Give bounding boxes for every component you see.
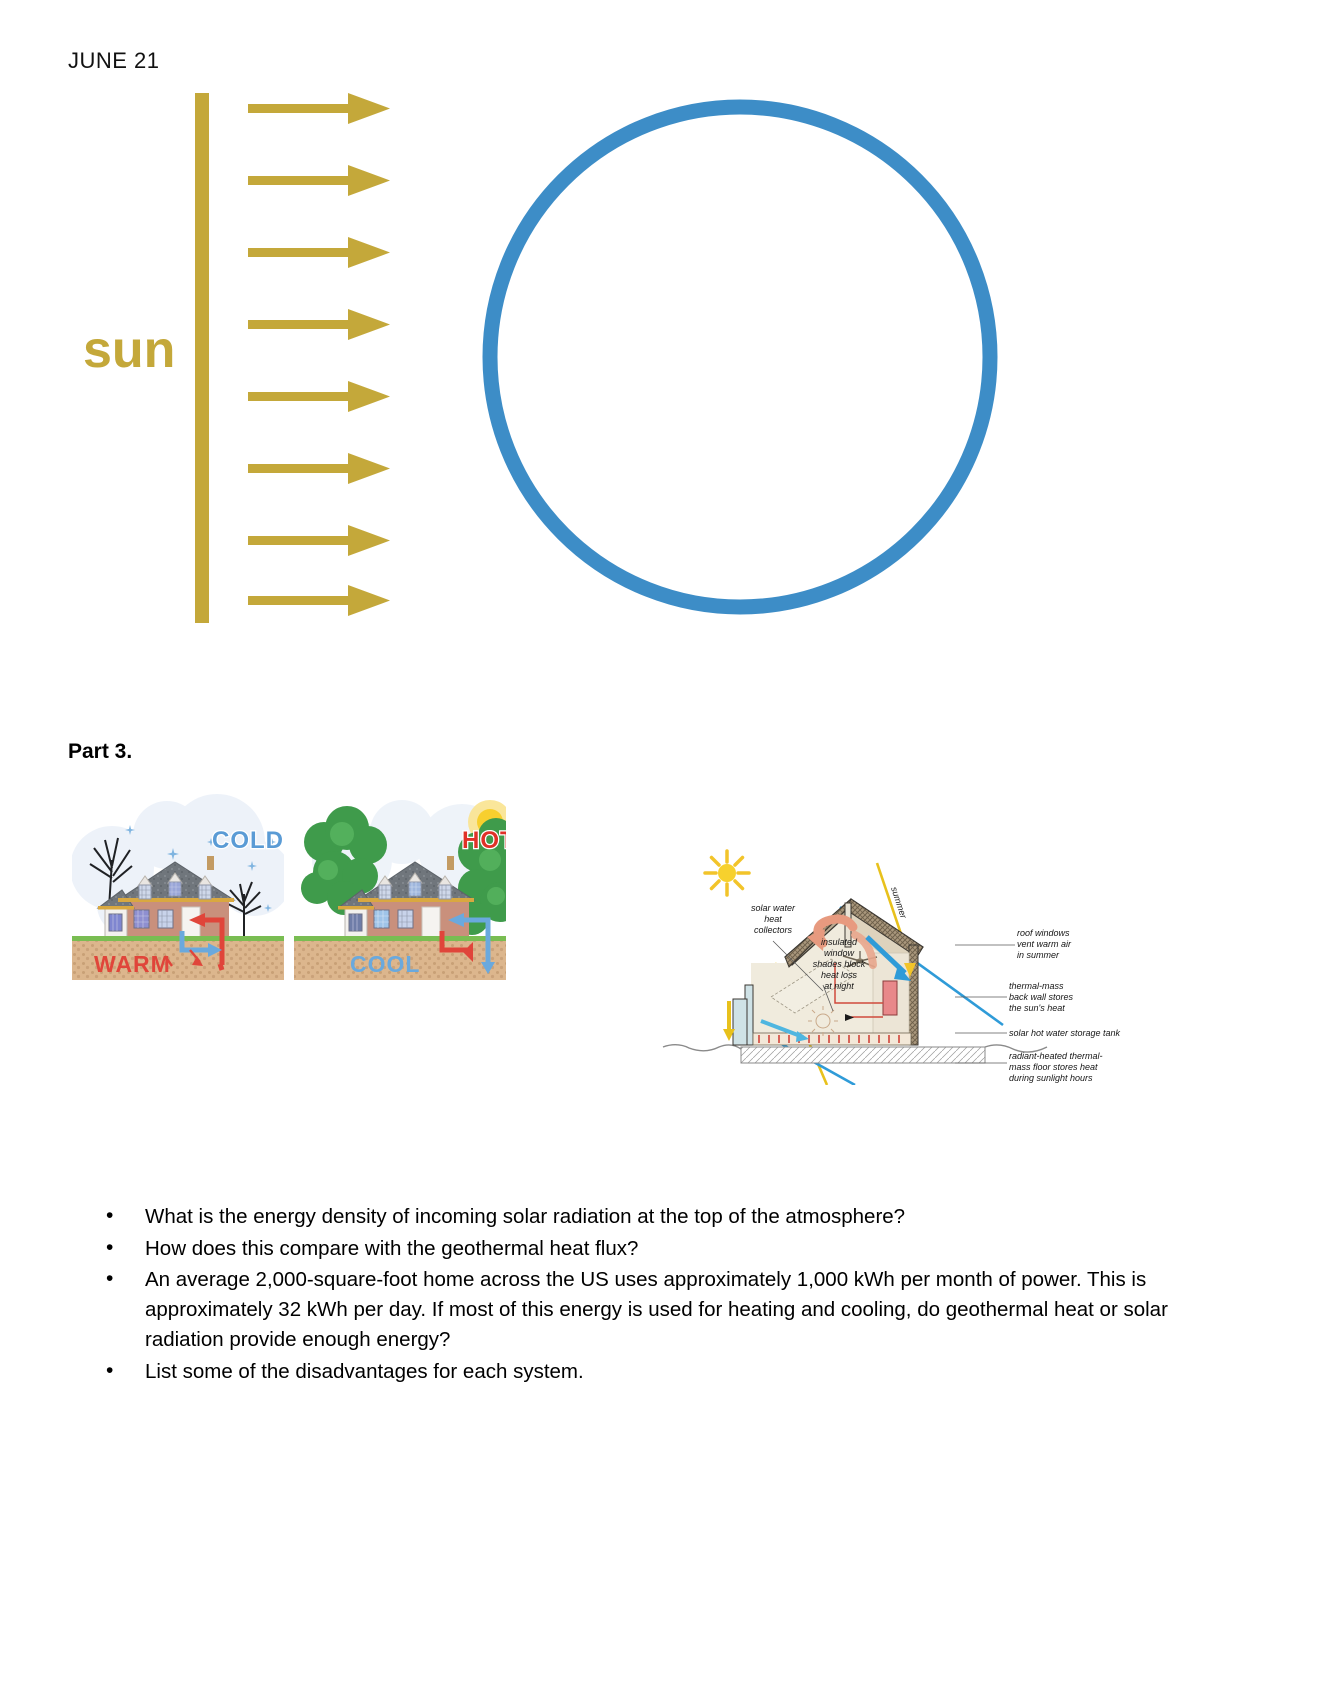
part3-heading: Part 3. xyxy=(68,740,132,764)
svg-text:shades block: shades block xyxy=(813,959,866,969)
sun-ray xyxy=(248,585,390,616)
sun-ray xyxy=(248,93,390,124)
svg-text:solar hot water storage tank: solar hot water storage tank xyxy=(1009,1028,1121,1038)
list-item: An average 2,000-square-foot home across… xyxy=(98,1265,1203,1354)
geothermal-heat-pump-figure: WARM COLD xyxy=(72,790,532,980)
svg-text:roof windows: roof windows xyxy=(1017,928,1070,938)
grass-summer xyxy=(294,936,506,941)
sun-icon xyxy=(705,851,749,895)
svg-text:heat loss: heat loss xyxy=(821,970,858,980)
svg-text:back wall stores: back wall stores xyxy=(1009,992,1074,1002)
ray-label-summer: summer xyxy=(889,886,909,921)
question-list: What is the energy density of incoming s… xyxy=(98,1202,1203,1388)
passive-solar-svg: summer winter summer winter xyxy=(655,785,1125,1085)
question-list-items: What is the energy density of incoming s… xyxy=(98,1202,1203,1386)
svg-text:heat: heat xyxy=(764,914,782,924)
list-item: What is the energy density of incoming s… xyxy=(98,1202,1203,1232)
callout-solar-water-collectors: solar water heat collectors xyxy=(751,903,796,935)
sun-ray xyxy=(248,165,390,196)
svg-text:collectors: collectors xyxy=(754,925,793,935)
sun-label: sun xyxy=(83,321,175,379)
ground-line-left xyxy=(663,1045,741,1051)
season-label-hot: HOT xyxy=(462,827,516,854)
svg-text:window: window xyxy=(824,948,855,958)
sunspace-glazing xyxy=(733,999,747,1045)
sun-bar xyxy=(195,93,209,623)
sun-ray xyxy=(248,453,390,484)
svg-text:insulated: insulated xyxy=(821,937,858,947)
svg-text:the sun's heat: the sun's heat xyxy=(1009,1003,1065,1013)
callout-storage-tank: solar hot water storage tank xyxy=(1009,1028,1121,1038)
svg-text:thermal-mass: thermal-mass xyxy=(1009,981,1064,991)
svg-text:radiant-heated thermal-: radiant-heated thermal- xyxy=(1009,1051,1103,1061)
svg-text:during sunlight hours: during sunlight hours xyxy=(1009,1073,1093,1083)
list-item: List some of the disadvantages for each … xyxy=(98,1357,1203,1387)
geothermal-panel-winter: WARM COLD xyxy=(72,794,292,980)
sun-earth-svg: sun xyxy=(75,85,1020,635)
page-title: JUNE 21 xyxy=(68,48,160,74)
svg-text:vent warm air: vent warm air xyxy=(1017,939,1072,949)
passive-solar-house-figure: summer winter summer winter xyxy=(655,785,1125,1085)
list-item: How does this compare with the geotherma… xyxy=(98,1234,1203,1264)
sun-ray xyxy=(248,309,390,340)
svg-text:at night: at night xyxy=(824,981,854,991)
sun-ray-group xyxy=(248,93,390,616)
svg-text:solar water: solar water xyxy=(751,903,796,913)
sun-earth-figure: sun xyxy=(75,85,1020,635)
season-label-cold: COLD xyxy=(212,827,284,854)
callout-radiant-floor: radiant-heated thermal- mass floor store… xyxy=(1009,1051,1103,1083)
callout-roof-windows: roof windows vent warm air in summer xyxy=(1017,928,1072,960)
ground-label-warm: WARM xyxy=(94,951,171,977)
sun-ray xyxy=(248,381,390,412)
geothermal-svg: WARM COLD xyxy=(72,790,532,980)
sun-ray xyxy=(248,237,390,268)
svg-text:mass floor stores heat: mass floor stores heat xyxy=(1009,1062,1098,1072)
foundation-hatch xyxy=(741,1047,985,1063)
sun-ray xyxy=(248,525,390,556)
svg-text:in summer: in summer xyxy=(1017,950,1060,960)
geothermal-panel-summer: COOL HOT xyxy=(294,800,524,980)
earth-circle xyxy=(490,107,990,607)
ground-label-cool: COOL xyxy=(350,951,420,977)
hot-water-tank xyxy=(883,981,897,1015)
callout-thermal-mass-wall: thermal-mass back wall stores the sun's … xyxy=(1009,981,1074,1013)
grass-winter xyxy=(72,936,284,941)
